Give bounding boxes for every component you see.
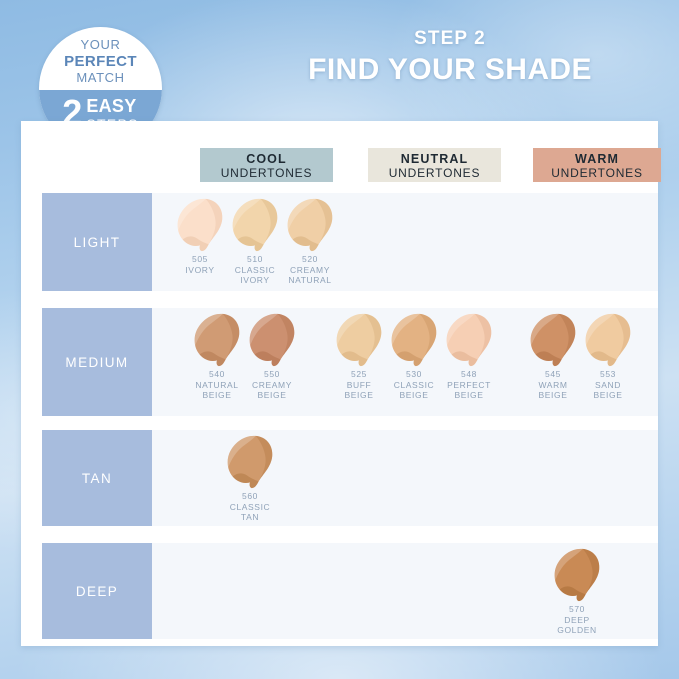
undertone-chip-warm[interactable]: WARMUNDERTONES xyxy=(533,148,661,182)
row-label-light[interactable]: LIGHT xyxy=(42,193,152,291)
foundation-swatch-icon xyxy=(526,312,580,368)
undertone-sublabel: UNDERTONES xyxy=(533,166,661,180)
badge-line-match: MATCH xyxy=(39,70,162,86)
shade-swatch-550[interactable]: 550CREAMY BEIGE xyxy=(241,312,303,401)
shade-code: 540 xyxy=(186,369,248,380)
undertone-name: WARM xyxy=(533,152,661,166)
shade-row-light: LIGHT505IVORY510CLASSIC IVORY520CREAMY N… xyxy=(42,193,658,291)
foundation-swatch-icon xyxy=(332,312,386,368)
shade-swatch-525[interactable]: 525BUFF BEIGE xyxy=(328,312,390,401)
shade-name: WARM BEIGE xyxy=(522,380,584,401)
shade-swatch-520[interactable]: 520CREAMY NATURAL xyxy=(279,197,341,286)
shade-code: 548 xyxy=(438,369,500,380)
shade-swatch-505[interactable]: 505IVORY xyxy=(169,197,231,275)
foundation-swatch-icon xyxy=(283,197,337,253)
row-label-medium[interactable]: MEDIUM xyxy=(42,308,152,416)
shade-code: 550 xyxy=(241,369,303,380)
shade-code: 560 xyxy=(219,491,281,502)
undertone-name: NEUTRAL xyxy=(368,152,501,166)
shade-swatch-560[interactable]: 560CLASSIC TAN xyxy=(219,434,281,523)
undertone-sublabel: UNDERTONES xyxy=(368,166,501,180)
undertone-chip-cool[interactable]: COOLUNDERTONES xyxy=(200,148,333,182)
foundation-swatch-icon xyxy=(442,312,496,368)
title-block: STEP 2 FIND YOUR SHADE xyxy=(265,28,635,88)
shade-code: 520 xyxy=(279,254,341,265)
shade-code: 505 xyxy=(169,254,231,265)
row-label-deep[interactable]: DEEP xyxy=(42,543,152,639)
shade-swatch-530[interactable]: 530CLASSIC BEIGE xyxy=(383,312,445,401)
badge-top-half: YOUR PERFECT MATCH xyxy=(39,27,162,90)
shade-row-tan: TAN560CLASSIC TAN xyxy=(42,430,658,526)
shade-code: 530 xyxy=(383,369,445,380)
shade-code: 553 xyxy=(577,369,639,380)
shade-name: CREAMY BEIGE xyxy=(241,380,303,401)
undertone-sublabel: UNDERTONES xyxy=(200,166,333,180)
foundation-swatch-icon xyxy=(550,547,604,603)
shade-code: 510 xyxy=(224,254,286,265)
badge-line-easy: EASY xyxy=(86,97,138,116)
shade-name: CLASSIC IVORY xyxy=(224,265,286,286)
shade-code: 525 xyxy=(328,369,390,380)
page-header: YOUR PERFECT MATCH 2 EASY STEPS STEP 2 F… xyxy=(0,0,679,124)
shade-chart-card: COOLUNDERTONESNEUTRALUNDERTONESWARMUNDER… xyxy=(21,121,658,646)
foundation-swatch-icon xyxy=(223,434,277,490)
shade-name: SAND BEIGE xyxy=(577,380,639,401)
shade-row-deep: DEEP570DEEP GOLDEN xyxy=(42,543,658,639)
shade-name: DEEP GOLDEN xyxy=(546,615,608,636)
shade-swatch-553[interactable]: 553SAND BEIGE xyxy=(577,312,639,401)
shade-name: CREAMY NATURAL xyxy=(279,265,341,286)
undertone-chip-neutral[interactable]: NEUTRALUNDERTONES xyxy=(368,148,501,182)
shade-swatch-540[interactable]: 540NATURAL BEIGE xyxy=(186,312,248,401)
shade-code: 545 xyxy=(522,369,584,380)
shade-row-medium: MEDIUM540NATURAL BEIGE550CREAMY BEIGE525… xyxy=(42,308,658,416)
foundation-swatch-icon xyxy=(245,312,299,368)
shade-swatch-510[interactable]: 510CLASSIC IVORY xyxy=(224,197,286,286)
step-label: STEP 2 xyxy=(265,28,635,50)
foundation-swatch-icon xyxy=(228,197,282,253)
shade-name: PERFECT BEIGE xyxy=(438,380,500,401)
foundation-swatch-icon xyxy=(387,312,441,368)
badge-line-perfect: PERFECT xyxy=(39,53,162,70)
shade-name: BUFF BEIGE xyxy=(328,380,390,401)
shade-code: 570 xyxy=(546,604,608,615)
undertone-name: COOL xyxy=(200,152,333,166)
page-title: FIND YOUR SHADE xyxy=(265,52,635,88)
shade-name: CLASSIC TAN xyxy=(219,502,281,523)
shade-swatch-570[interactable]: 570DEEP GOLDEN xyxy=(546,547,608,636)
shade-name: IVORY xyxy=(169,265,231,276)
shade-swatch-545[interactable]: 545WARM BEIGE xyxy=(522,312,584,401)
foundation-swatch-icon xyxy=(581,312,635,368)
row-label-tan[interactable]: TAN xyxy=(42,430,152,526)
foundation-swatch-icon xyxy=(173,197,227,253)
badge-line-your: YOUR xyxy=(39,37,162,53)
shade-name: NATURAL BEIGE xyxy=(186,380,248,401)
shade-swatch-548[interactable]: 548PERFECT BEIGE xyxy=(438,312,500,401)
foundation-swatch-icon xyxy=(190,312,244,368)
shade-name: CLASSIC BEIGE xyxy=(383,380,445,401)
